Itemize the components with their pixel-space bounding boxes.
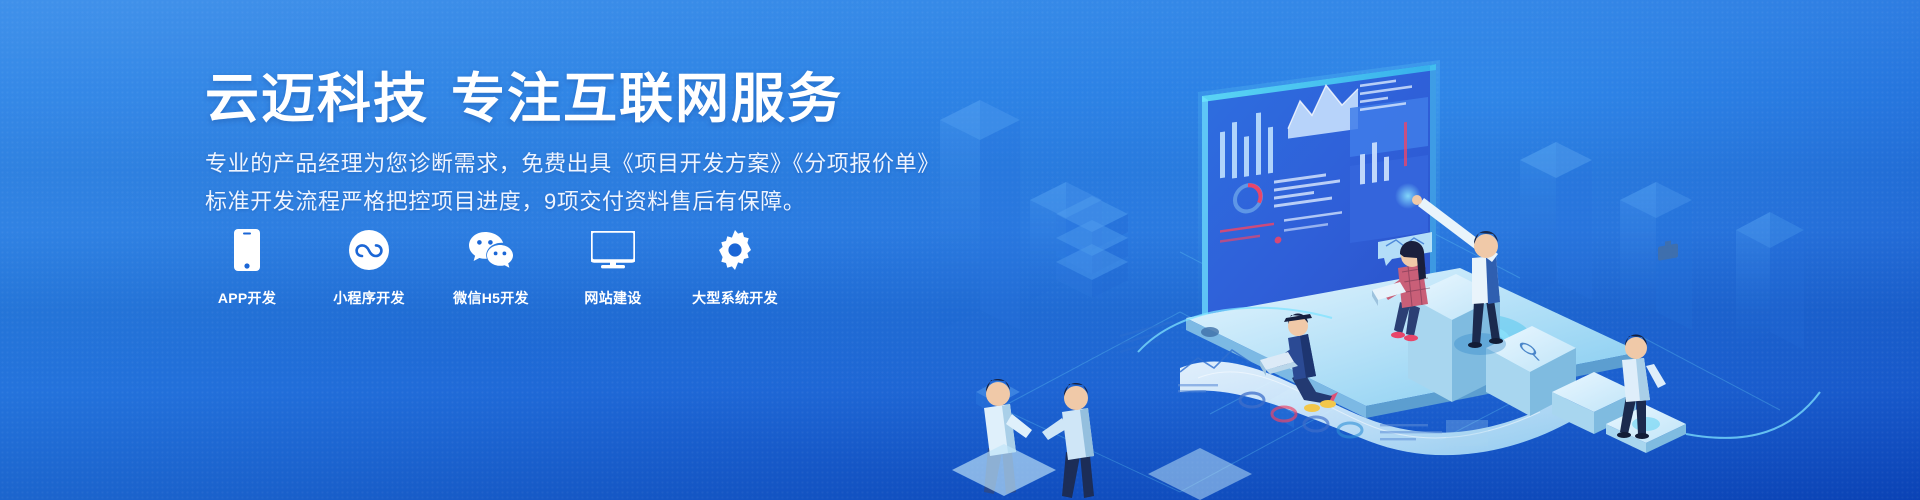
headline-tagline: 专注互联网服务 [451, 69, 843, 129]
service-label-mini-program: 小程序开发 [333, 288, 405, 308]
subtitle-line-2: 标准开发流程严格把控项目进度，9项交付资料售后有保障。 [205, 183, 945, 221]
isometric-illustration [880, 0, 1920, 500]
headline-brand: 云迈科技 [205, 69, 429, 129]
service-icon-list: APP开发 小程序开发 [209, 228, 773, 308]
gear-icon [715, 228, 755, 272]
service-item-wechat[interactable]: 微信H5开发 [453, 228, 529, 308]
service-label-wechat: 微信H5开发 [453, 288, 529, 308]
banner-content: 云迈科技专注互联网服务 专业的产品经理为您诊断需求，免费出具《项目开发方案》《分… [205, 0, 965, 500]
monitor-icon [591, 228, 635, 272]
mini-program-icon [349, 228, 389, 272]
service-item-system[interactable]: 大型系统开发 [697, 228, 773, 308]
service-label-website: 网站建设 [584, 288, 641, 308]
banner-subtitle: 专业的产品经理为您诊断需求，免费出具《项目开发方案》《分项报价单》 标准开发流程… [205, 145, 945, 221]
service-item-app[interactable]: APP开发 [209, 228, 285, 308]
service-item-mini-program[interactable]: 小程序开发 [331, 228, 407, 308]
service-label-system: 大型系统开发 [692, 288, 778, 308]
service-item-website[interactable]: 网站建设 [575, 228, 651, 308]
service-label-app: APP开发 [218, 288, 276, 308]
subtitle-line-1: 专业的产品经理为您诊断需求，免费出具《项目开发方案》《分项报价单》 [205, 145, 945, 183]
wechat-icon [467, 228, 515, 272]
page-title: 云迈科技专注互联网服务 [205, 68, 843, 130]
server-stack [1056, 196, 1128, 298]
hero-banner: 云迈科技专注互联网服务 专业的产品经理为您诊断需求，免费出具《项目开发方案》《分… [0, 0, 1920, 500]
foreground-tile [952, 444, 1252, 500]
mobile-phone-icon [234, 228, 260, 272]
